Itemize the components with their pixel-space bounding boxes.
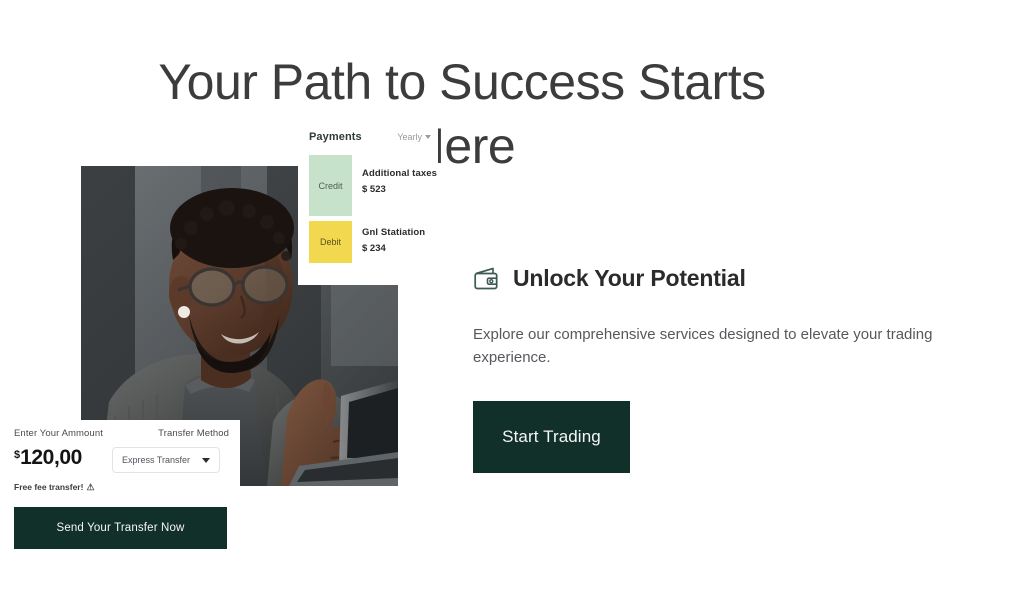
feature-section: Unlock Your Potential Explore our compre… [473, 265, 1013, 473]
payments-period-dropdown[interactable]: Yearly [397, 132, 431, 142]
chevron-down-icon [202, 458, 210, 463]
feature-heading-row: Unlock Your Potential [473, 265, 1013, 293]
payments-card-header: Payments Yearly [309, 131, 431, 143]
payments-card-title: Payments [309, 131, 362, 143]
free-fee-note-text: Free fee transfer! [14, 482, 83, 492]
chevron-down-icon [425, 135, 431, 139]
payment-row-debit-label: Gnl Statiation [362, 227, 425, 238]
payment-row-debit-value: $ 234 [362, 243, 425, 254]
payment-row-credit-label: Additional taxes [362, 168, 437, 179]
payment-row-debit-meta: Gnl Statiation $ 234 [352, 221, 425, 263]
amount-input[interactable]: $ 120,00 [14, 447, 82, 468]
feature-title: Unlock Your Potential [513, 265, 746, 293]
payments-period-label: Yearly [397, 132, 422, 142]
hero-visual-composition: Payments Yearly Credit Additional taxes … [0, 120, 450, 565]
warning-triangle-icon: ⚠ [86, 483, 94, 492]
wallet-icon [473, 266, 501, 292]
transfer-method-label: Transfer Method [158, 428, 229, 439]
payment-row-credit-value: $ 523 [362, 184, 437, 195]
send-transfer-button[interactable]: Send Your Transfer Now [14, 507, 227, 549]
payment-row-debit[interactable]: Debit Gnl Statiation $ 234 [309, 221, 425, 263]
transfer-method-select[interactable]: Express Transfer [112, 447, 220, 473]
page-root: Your Path to Success Starts Here [0, 0, 1024, 565]
feature-description: Explore our comprehensive services desig… [473, 323, 1008, 369]
payment-row-credit-meta: Additional taxes $ 523 [352, 155, 437, 216]
payment-type-badge-credit: Credit [309, 155, 352, 216]
amount-value: 120,00 [20, 447, 82, 468]
transfer-method-value: Express Transfer [122, 455, 190, 465]
transfer-card: Enter Your Ammount Transfer Method $ 120… [0, 420, 240, 607]
payment-row-credit[interactable]: Credit Additional taxes $ 523 [309, 155, 437, 216]
amount-field-label: Enter Your Ammount [14, 428, 103, 439]
free-fee-note: Free fee transfer! ⚠ [14, 482, 95, 492]
payment-type-badge-debit: Debit [309, 221, 352, 263]
start-trading-button[interactable]: Start Trading [473, 401, 630, 473]
transfer-card-labels: Enter Your Ammount Transfer Method [14, 428, 229, 439]
payments-card: Payments Yearly Credit Additional taxes … [298, 126, 438, 285]
